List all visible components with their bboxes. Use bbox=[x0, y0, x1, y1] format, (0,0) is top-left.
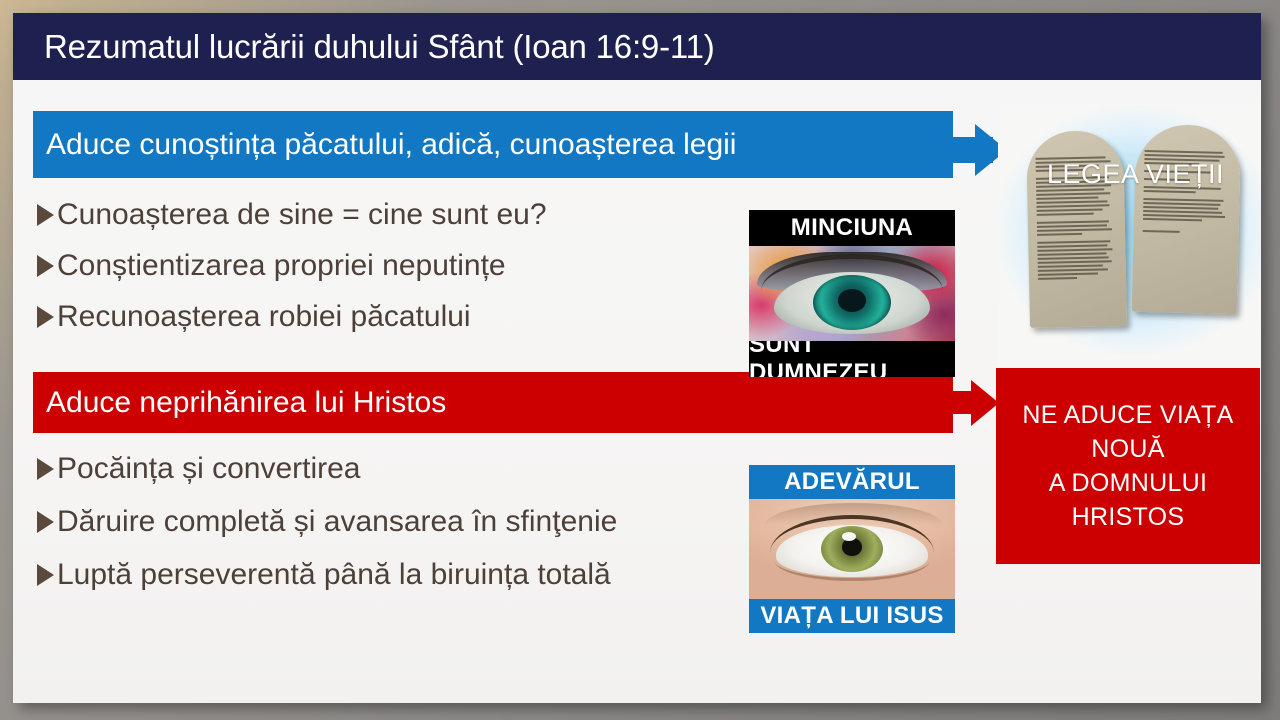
slide-title-bar: Rezumatul lucrării duhului Sfânt (Ioan 1… bbox=[13, 13, 1261, 80]
tablets-caption-label: LEGEA VIEȚII bbox=[998, 159, 1261, 190]
bullet-label: Cunoașterea de sine = cine sunt eu? bbox=[57, 200, 547, 230]
red-arrow-icon bbox=[971, 380, 999, 426]
section-two-header: Aduce neprihănirea lui Hristos bbox=[33, 372, 953, 433]
section-one-heading-label: Aduce cunoștința păcatului, adică, cunoa… bbox=[33, 128, 736, 162]
bullet-label: Dăruire completă și avansarea în sfinţen… bbox=[57, 507, 617, 537]
list-item: Luptă perseverentă până la biruința tota… bbox=[37, 553, 617, 597]
red-box-line: NE ADUCE VIAȚA bbox=[1022, 398, 1233, 432]
bullet-label: Recunoașterea robiei păcatului bbox=[57, 302, 471, 332]
image-card-minciuna: MINCIUNA SUNT DUMNEZEU bbox=[749, 210, 955, 377]
bullet-label: Pocăința și convertirea bbox=[57, 454, 361, 484]
eye-lower-lid-shape bbox=[774, 560, 931, 581]
triangle-bullet-icon bbox=[37, 458, 54, 480]
red-box-line: A DOMNULUI bbox=[1049, 466, 1208, 500]
eye-pupil-shape bbox=[838, 289, 867, 312]
stone-tablet-right bbox=[1132, 124, 1242, 315]
adevarul-bottom-label: VIAȚA LUI ISUS bbox=[749, 599, 955, 633]
triangle-bullet-icon bbox=[37, 255, 54, 277]
triangle-bullet-icon bbox=[37, 204, 54, 226]
adevarul-top-label: ADEVĂRUL bbox=[749, 465, 955, 499]
slide-stage: Rezumatul lucrării duhului Sfânt (Ioan 1… bbox=[0, 0, 1280, 720]
list-item: Cunoașterea de sine = cine sunt eu? bbox=[37, 193, 547, 237]
list-item: Conștientizarea propriei neputințe bbox=[37, 244, 547, 288]
triangle-bullet-icon bbox=[37, 306, 54, 328]
red-box-line: NOUĂ bbox=[1091, 432, 1164, 466]
minciuna-top-label: MINCIUNA bbox=[749, 210, 955, 246]
list-item: Pocăința și convertirea bbox=[37, 447, 617, 491]
minciuna-bottom-label: SUNT DUMNEZEU bbox=[749, 341, 955, 377]
section-one-header: Aduce cunoștința păcatului, adică, cunoa… bbox=[33, 111, 953, 178]
section-two-bullet-list: Pocăința și convertirea Dăruire completă… bbox=[37, 447, 617, 606]
presentation-slide: Rezumatul lucrării duhului Sfânt (Ioan 1… bbox=[13, 13, 1261, 703]
red-box-line: HRISTOS bbox=[1072, 500, 1185, 534]
realistic-eye-image bbox=[749, 499, 955, 599]
list-item: Recunoașterea robiei păcatului bbox=[37, 295, 547, 339]
bullet-label: Conștientizarea propriei neputințe bbox=[57, 251, 506, 281]
triangle-bullet-icon bbox=[37, 511, 54, 533]
section-one-bullet-list: Cunoașterea de sine = cine sunt eu? Conș… bbox=[37, 193, 547, 346]
section-two-heading-label: Aduce neprihănirea lui Hristos bbox=[33, 386, 446, 420]
painted-eye-image bbox=[749, 246, 955, 341]
image-card-adevarul: ADEVĂRUL VIAȚA LUI ISUS bbox=[749, 465, 955, 633]
list-item: Dăruire completă și avansarea în sfinţen… bbox=[37, 500, 617, 544]
conclusion-red-box: NE ADUCE VIAȚA NOUĂ A DOMNULUI HRISTOS bbox=[996, 368, 1260, 564]
stone-tablets-image: LEGEA VIEȚII bbox=[998, 103, 1261, 368]
triangle-bullet-icon bbox=[37, 564, 54, 586]
page-title: Rezumatul lucrării duhului Sfânt (Ioan 1… bbox=[13, 28, 715, 66]
bullet-label: Luptă perseverentă până la biruința tota… bbox=[57, 560, 611, 590]
